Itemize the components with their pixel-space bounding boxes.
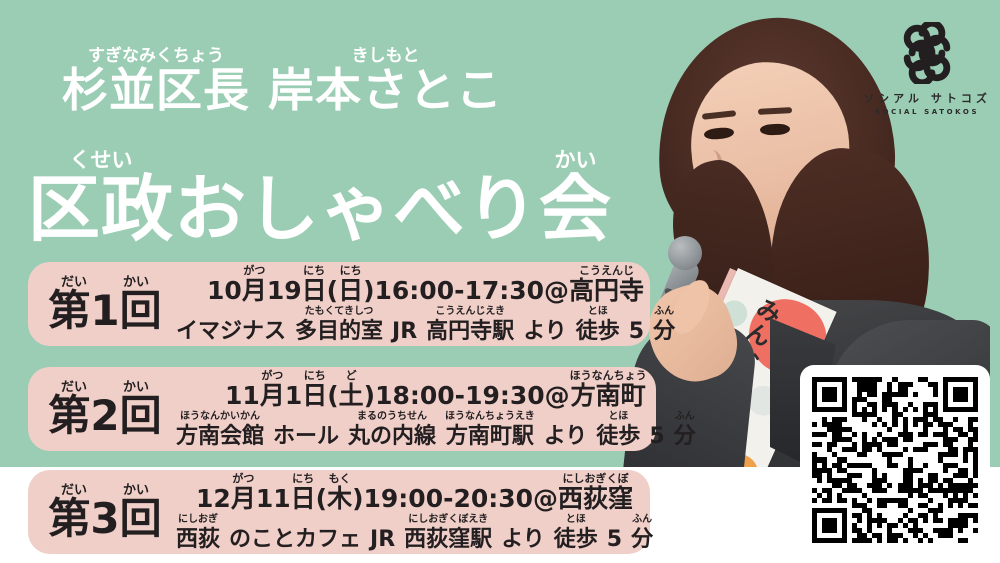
ruby-segment: ほうなんちょうえき方南町駅 — [445, 412, 535, 448]
event-venue-line: ほうなんかいかん方南会館ホールまるのうちせん丸の内線ほうなんちょうえき方南町駅よ… — [176, 412, 696, 448]
base-office: 杉並区長 — [62, 67, 250, 115]
name-part-person: きしもと 岸本さとこ — [268, 48, 503, 115]
poster-root: みんなでつくる ソシアル サトコズ SOCIAL SATOKOS — [0, 0, 1000, 563]
base-text: 多目的室 — [295, 320, 383, 343]
base-kai: 会 — [539, 173, 612, 245]
base-text: 日 — [302, 278, 327, 304]
ruby-segment: JR — [392, 307, 417, 343]
qr-code-panel[interactable] — [800, 365, 990, 555]
title-part-2: おしゃべり — [174, 171, 539, 245]
base-text: 16:00-17:30@ — [375, 278, 570, 304]
title-part-1: くせい 区政 — [28, 150, 174, 245]
ruby-segment: まるのうちせん丸の内線 — [348, 412, 436, 448]
ruby-segment: にち(日) — [327, 265, 375, 304]
base-text: 分 — [674, 425, 696, 448]
base-text: 日 — [291, 486, 316, 512]
ruby-segment: こうえんじえき高円寺駅 — [426, 307, 514, 343]
base-oshaberi: おしゃべり — [174, 173, 539, 245]
base-text: (日) — [327, 278, 375, 304]
ruby-segment: JR — [370, 515, 395, 551]
ruby-segment: 12 — [196, 473, 231, 512]
base-text: 徒歩 — [576, 320, 620, 343]
event-datetime-line: 11がつ月1にち日ど(土)18:00-19:30@ほうなんちょう方南町 — [176, 370, 696, 409]
base-text: 月 — [231, 486, 256, 512]
event-details: 10がつ月19にち日にち(日)16:00-17:30@こうえんじ高円寺イマジナス… — [176, 265, 685, 342]
ruby-segment: とほ徒歩 — [576, 307, 620, 343]
badge-label: 第2回 — [48, 395, 161, 437]
base-text: 18:00-19:30@ — [375, 383, 570, 409]
ruby-text: たもくてきしつ — [305, 307, 374, 319]
base-text: 丸の内線 — [348, 425, 436, 448]
ruby-segment: 11 — [225, 370, 260, 409]
base-kusei: 区政 — [28, 173, 174, 245]
base-text: 11 — [256, 486, 291, 512]
base-text: 高円寺 — [569, 278, 644, 304]
base-text: (木) — [316, 486, 364, 512]
base-text: 方南町駅 — [446, 425, 534, 448]
ruby-segment: 5 — [649, 412, 664, 448]
ruby-segment: ふん分 — [631, 515, 653, 551]
base-text: 月 — [260, 383, 285, 409]
ruby-segment: より — [501, 515, 545, 551]
ruby-segment: こうえんじ高円寺 — [569, 265, 644, 304]
event-datetime-line: 10がつ月19にち日にち(日)16:00-17:30@こうえんじ高円寺 — [176, 265, 675, 304]
ruby-segment: たもくてきしつ多目的室 — [295, 307, 383, 343]
ruby-segment: 5 — [607, 515, 622, 551]
event-qr-code[interactable] — [812, 377, 978, 543]
base-text: イマジナス — [176, 320, 286, 343]
base-text: ホール — [273, 425, 339, 448]
event-row[interactable]: だいかい第3回12がつ月11にち日もく(木) 19:00-20:30@にしおぎく… — [28, 470, 650, 554]
base-text: (土) — [327, 383, 375, 409]
header-name-line: すぎなみくちょう 杉並区長 きしもと 岸本さとこ — [62, 48, 622, 115]
ruby-segment: ほうなんかいかん方南会館 — [176, 412, 264, 448]
ruby-text: ほうなんかいかん — [180, 412, 260, 424]
base-text: 19:00-20:30@ — [364, 486, 559, 512]
ruby-segment: にち日 — [302, 265, 327, 304]
ruby-text: にしおぎ — [178, 515, 218, 527]
base-text: 10 — [207, 278, 242, 304]
ruby-segment: にしおぎくぼ西荻窪 — [558, 473, 633, 512]
ruby-text: ふん — [654, 307, 674, 319]
event-row[interactable]: だいかい第1回10がつ月19にち日にち(日)16:00-17:30@こうえんじ高… — [28, 262, 650, 346]
base-text: 月 — [242, 278, 267, 304]
base-text: 分 — [631, 528, 653, 551]
base-text: 徒歩 — [554, 528, 598, 551]
social-satokos-mark-icon — [896, 22, 958, 84]
base-text: 5 — [607, 528, 622, 551]
ruby-segment: 1 — [285, 370, 302, 409]
base-text: より — [501, 528, 545, 551]
base-text: 西荻 — [176, 528, 220, 551]
ruby-segment: とほ徒歩 — [554, 515, 598, 551]
event-ordinal-badge: だいかい第3回 — [28, 484, 176, 540]
event-row[interactable]: だいかい第2回11がつ月1にち日ど(土)18:00-19:30@ほうなんちょう方… — [28, 367, 656, 451]
ruby-segment: ふん分 — [674, 412, 696, 448]
ruby-segment: ホール — [273, 412, 339, 448]
ruby-segment: 5 — [629, 307, 644, 343]
base-text: 12 — [196, 486, 231, 512]
event-ordinal-badge: だいかい第2回 — [28, 381, 176, 437]
base-text: 西荻窪駅 — [404, 528, 492, 551]
page-title: くせい 区政 おしゃべり かい 会 — [28, 150, 668, 245]
ruby-text: ほうなんちょうえき — [445, 412, 535, 424]
ruby-text: にしおぎくぼえき — [408, 515, 488, 527]
ruby-segment: 16:00-17:30@ — [375, 265, 570, 304]
ruby-segment: より — [544, 412, 588, 448]
ruby-segment: 18:00-19:30@ — [375, 370, 570, 409]
ruby-segment: 19:00-20:30@ — [364, 473, 559, 512]
base-text: JR — [392, 320, 417, 343]
ruby-segment: 11 — [256, 473, 291, 512]
ruby-segment: にち日 — [291, 473, 316, 512]
base-text: 1 — [285, 383, 302, 409]
base-text: より — [523, 320, 567, 343]
ruby-segment: もく(木) — [316, 473, 364, 512]
base-text: 徒歩 — [596, 425, 640, 448]
base-text: 高円寺駅 — [426, 320, 514, 343]
ruby-text: とほ — [588, 307, 608, 319]
ruby-segment: ど(土) — [327, 370, 375, 409]
event-venue-line: にしおぎ西荻のことカフェJRにしおぎくぼえき西荻窪駅よりとほ徒歩5ふん分 — [176, 515, 653, 551]
ruby-segment: 10 — [207, 265, 242, 304]
ruby-text: ふん — [632, 515, 652, 527]
ruby-segment: イマジナス — [176, 307, 286, 343]
title-part-3: かい 会 — [539, 150, 612, 245]
ruby-segment: より — [523, 307, 567, 343]
name-row: すぎなみくちょう 杉並区長 きしもと 岸本さとこ — [62, 48, 622, 115]
ruby-text: まるのうちせん — [357, 412, 427, 424]
base-text: 19 — [267, 278, 302, 304]
ruby-text: とほ — [608, 412, 628, 424]
title-row: くせい 区政 おしゃべり かい 会 — [28, 150, 668, 245]
base-text: 分 — [653, 320, 675, 343]
base-text: より — [544, 425, 588, 448]
ruby-segment: にしおぎ西荻 — [176, 515, 220, 551]
event-details: 12がつ月11にち日もく(木) 19:00-20:30@にしおぎくぼ西荻窪にしお… — [176, 473, 663, 550]
ruby-segment: にしおぎくぼえき西荻窪駅 — [404, 515, 492, 551]
event-venue-line: イマジナスたもくてきしつ多目的室JRこうえんじえき高円寺駅よりとほ徒歩5ふん分 — [176, 307, 675, 343]
base-text: のことカフェ — [229, 528, 361, 551]
brand-logo: ソシアル サトコズ SOCIAL SATOKOS — [862, 22, 992, 130]
ruby-segment: ふん分 — [653, 307, 675, 343]
ruby-segment: がつ月 — [242, 265, 267, 304]
base-text: 11 — [225, 383, 260, 409]
ruby-text: こうえんじえき — [435, 307, 505, 319]
ruby-segment: とほ徒歩 — [596, 412, 640, 448]
ruby-text: ふん — [675, 412, 695, 424]
base-text: JR — [370, 528, 395, 551]
ruby-segment: 19 — [267, 265, 302, 304]
name-part-office: すぎなみくちょう 杉並区長 — [62, 48, 250, 115]
event-details: 11がつ月1にち日ど(土)18:00-19:30@ほうなんちょう方南町ほうなんか… — [176, 370, 706, 447]
base-text: 5 — [649, 425, 664, 448]
logo-name-en: SOCIAL SATOKOS — [862, 108, 992, 116]
base-text: 方南町 — [571, 383, 646, 409]
logo-name-jp: ソシアル サトコズ — [862, 92, 992, 105]
ruby-segment: がつ月 — [231, 473, 256, 512]
badge-label: 第1回 — [48, 290, 161, 332]
ruby-segment: がつ月 — [260, 370, 285, 409]
ruby-segment: にち日 — [302, 370, 327, 409]
ruby-text: とほ — [566, 515, 586, 527]
ruby-segment: ほうなんちょう方南町 — [570, 370, 647, 409]
badge-label: 第3回 — [48, 498, 161, 540]
base-text: 日 — [302, 383, 327, 409]
ruby-segment: のことカフェ — [229, 515, 361, 551]
base-text: 西荻窪 — [558, 486, 633, 512]
base-text: 方南会館 — [176, 425, 264, 448]
event-ordinal-badge: だいかい第1回 — [28, 276, 176, 332]
event-datetime-line: 12がつ月11にち日もく(木) 19:00-20:30@にしおぎくぼ西荻窪 — [176, 473, 653, 512]
base-text: 5 — [629, 320, 644, 343]
base-person: 岸本さとこ — [268, 67, 503, 115]
